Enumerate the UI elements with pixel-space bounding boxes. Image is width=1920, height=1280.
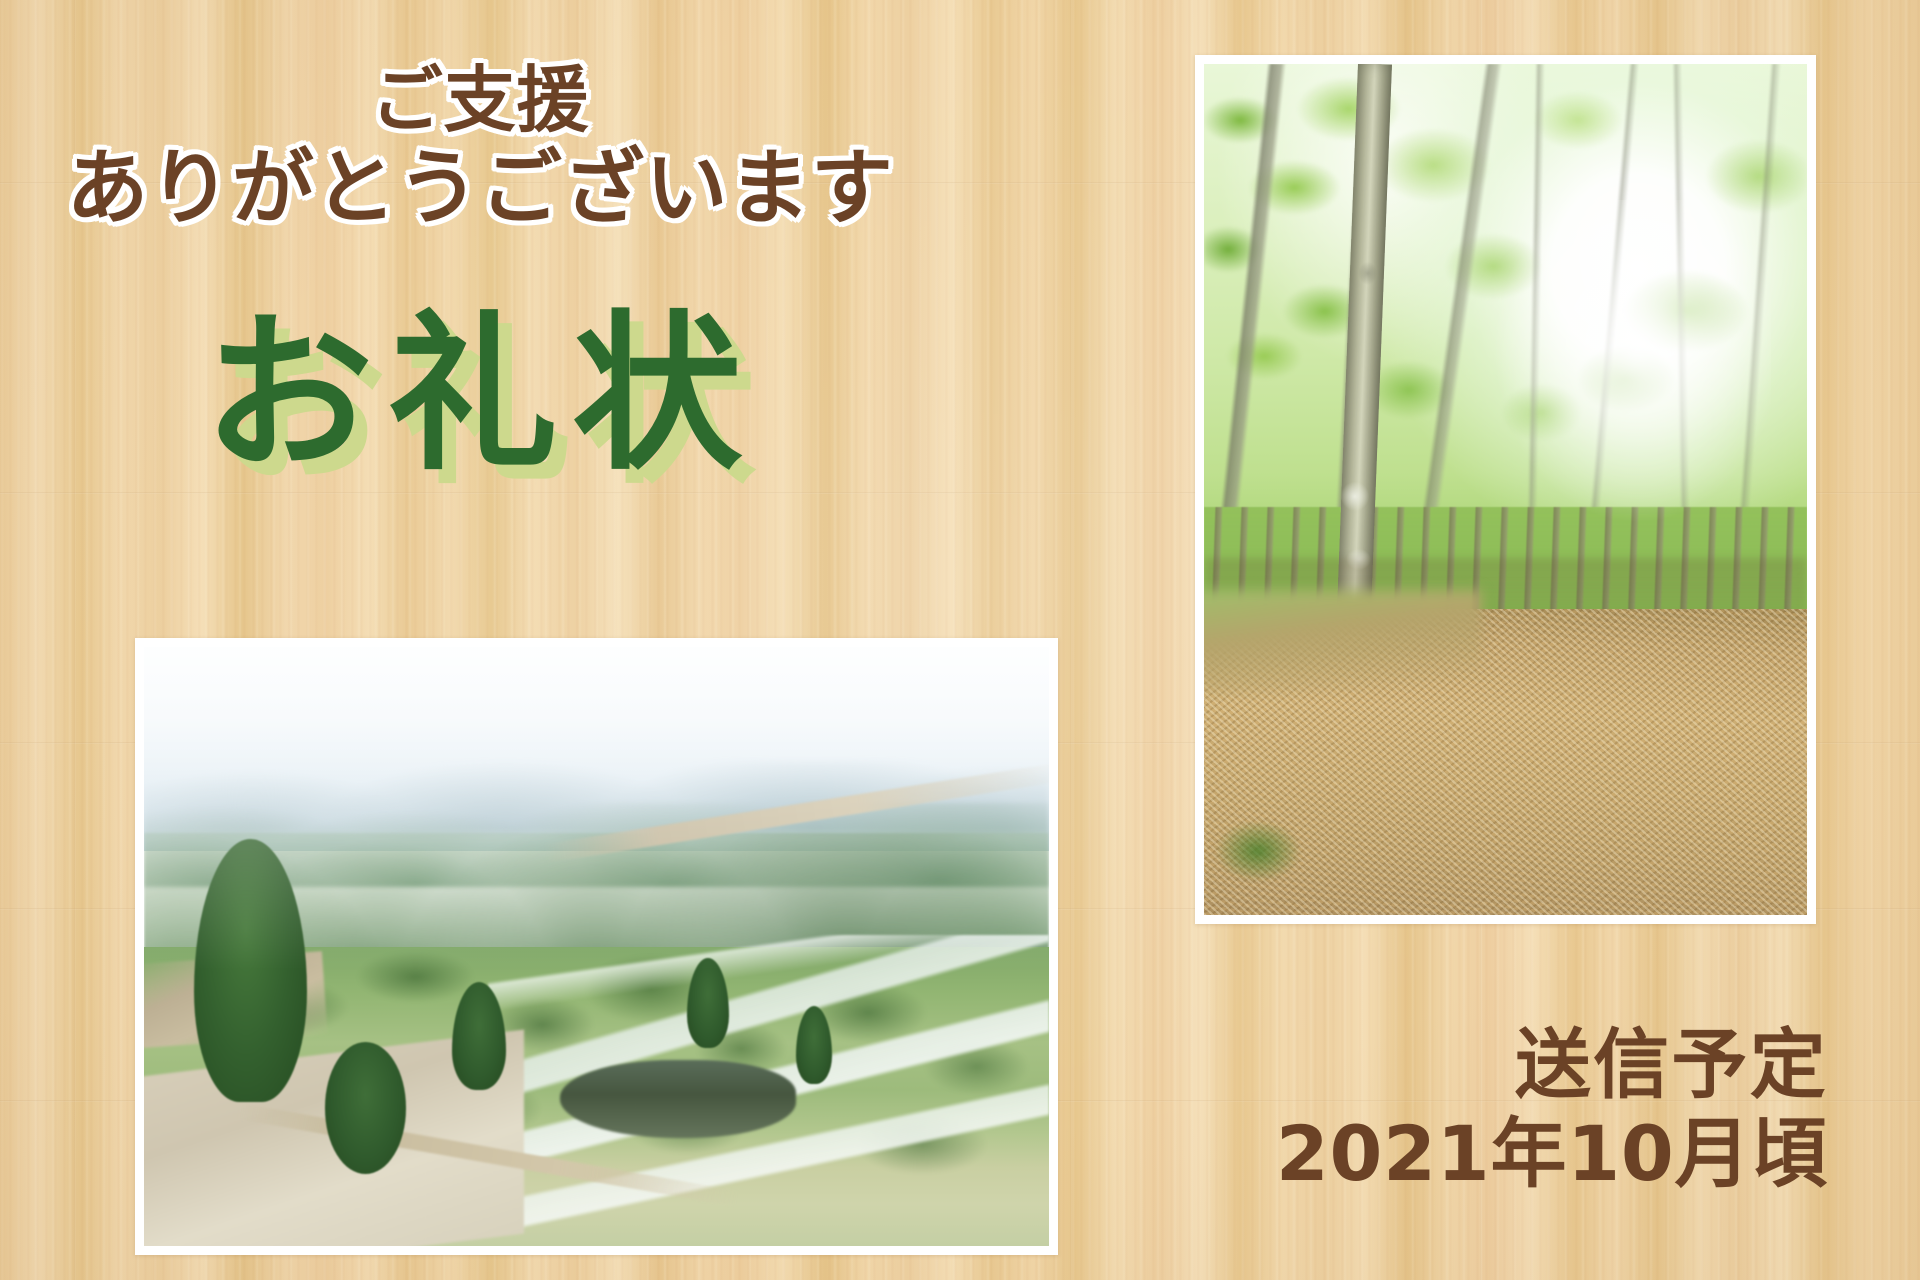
delivery-schedule: 送信予定 2021年10月頃 <box>1276 1022 1828 1196</box>
photo-rice-terrace <box>135 638 1058 1255</box>
thanks-line-2: ありがとうございます <box>0 146 960 233</box>
delivery-schedule-date: 2021年10月頃 <box>1276 1111 1828 1196</box>
photo-rice-terrace-image <box>144 647 1049 1246</box>
photo-beech-forest-image <box>1204 64 1807 915</box>
delivery-schedule-label: 送信予定 <box>1276 1022 1828 1107</box>
thanks-line-1: ご支援 <box>0 62 960 138</box>
terrace-cedar-tree <box>325 1042 406 1174</box>
forest-moss-patch <box>1216 821 1300 881</box>
poster-root: ご支援 ありがとうございます お礼状 <box>0 0 1920 1280</box>
photo-beech-forest <box>1195 55 1816 924</box>
thanks-headline: ご支援 ありがとうございます <box>0 62 960 233</box>
terrace-pond <box>560 1060 795 1138</box>
page-title: お礼状 <box>0 310 960 480</box>
